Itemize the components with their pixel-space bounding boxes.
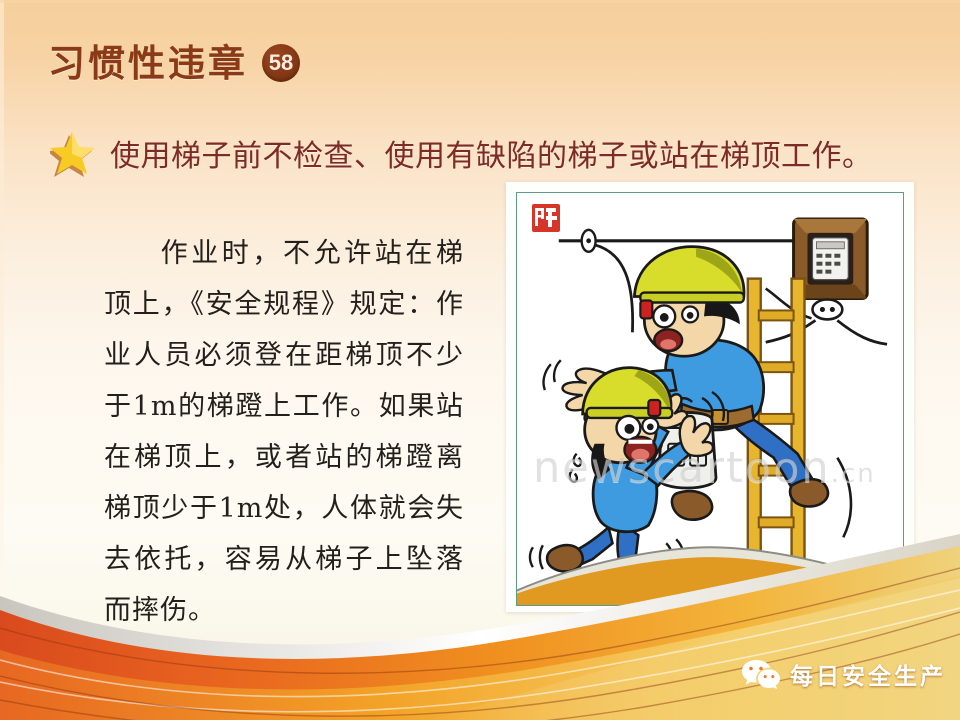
status-badge: 58 (262, 44, 300, 82)
slide-title-row: 习惯性违章 58 (48, 44, 300, 82)
red-seal-stamp-icon (531, 203, 561, 233)
footer-label: 每日安全生产 (790, 657, 946, 691)
slide-canvas: 习惯性违章 58 使用梯子前不检查、使用有缺陷的梯子或站在梯顶工作。 作业时，不… (0, 0, 960, 720)
top-edge-strip (0, 0, 960, 3)
footer-brand: 每日安全生产 (742, 654, 946, 694)
subtitle-text: 使用梯子前不检查、使用有缺陷的梯子或站在梯顶工作。 (110, 131, 873, 175)
page-title: 习惯性违章 (48, 45, 248, 82)
subtitle-row: 使用梯子前不检查、使用有缺陷的梯子或站在梯顶工作。 (50, 128, 950, 178)
star-icon (50, 128, 104, 178)
wechat-icon (742, 659, 780, 689)
